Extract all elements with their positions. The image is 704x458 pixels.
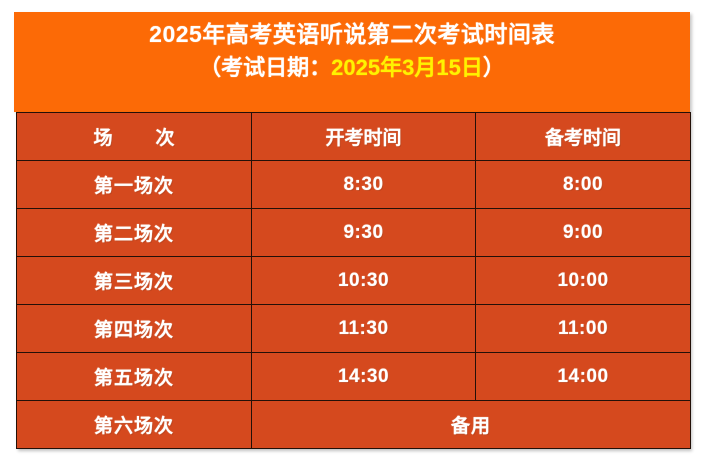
schedule-table: 场 次 开考时间 备考时间 第一场次 8:30 8:00 第二场次 9:30 9… xyxy=(16,112,691,449)
session-label: 第四场次 xyxy=(17,305,252,353)
prep-time-value: 10:00 xyxy=(476,257,691,305)
spare-note: 备用 xyxy=(252,401,691,449)
table-row: 第四场次 11:30 11:00 xyxy=(17,305,691,353)
start-time-value: 8:30 xyxy=(252,161,476,209)
page-title: 2025年高考英语听说第二次考试时间表 xyxy=(149,18,555,51)
prep-time-value: 9:00 xyxy=(476,209,691,257)
start-time-value: 11:30 xyxy=(252,305,476,353)
header-session: 场 次 xyxy=(17,113,252,161)
exam-date-value: 2025年3月15日 xyxy=(331,55,483,80)
prep-time-value: 8:00 xyxy=(476,161,691,209)
subtitle-suffix: ） xyxy=(483,55,505,80)
table-row: 第五场次 14:30 14:00 xyxy=(17,353,691,401)
session-label: 第五场次 xyxy=(17,353,252,401)
subtitle-prefix: （考试日期： xyxy=(199,55,331,80)
header-prep-time: 备考时间 xyxy=(476,113,691,161)
table-row-spare: 第六场次 备用 xyxy=(17,401,691,449)
start-time-value: 14:30 xyxy=(252,353,476,401)
prep-time-value: 11:00 xyxy=(476,305,691,353)
session-label: 第二场次 xyxy=(17,209,252,257)
start-time-value: 10:30 xyxy=(252,257,476,305)
table-header-row: 场 次 开考时间 备考时间 xyxy=(17,113,691,161)
session-label: 第三场次 xyxy=(17,257,252,305)
session-label: 第六场次 xyxy=(17,401,252,449)
header-start-time: 开考时间 xyxy=(252,113,476,161)
schedule-table-wrapper: 场 次 开考时间 备考时间 第一场次 8:30 8:00 第二场次 9:30 9… xyxy=(16,112,690,449)
table-row: 第二场次 9:30 9:00 xyxy=(17,209,691,257)
session-label: 第一场次 xyxy=(17,161,252,209)
schedule-poster: 2025年高考英语听说第二次考试时间表 （考试日期：2025年3月15日） 场 … xyxy=(0,0,704,458)
exam-date-subtitle: （考试日期：2025年3月15日） xyxy=(199,51,505,84)
table-row: 第一场次 8:30 8:00 xyxy=(17,161,691,209)
title-banner: 2025年高考英语听说第二次考试时间表 （考试日期：2025年3月15日） xyxy=(14,12,690,112)
prep-time-value: 14:00 xyxy=(476,353,691,401)
table-row: 第三场次 10:30 10:00 xyxy=(17,257,691,305)
start-time-value: 9:30 xyxy=(252,209,476,257)
